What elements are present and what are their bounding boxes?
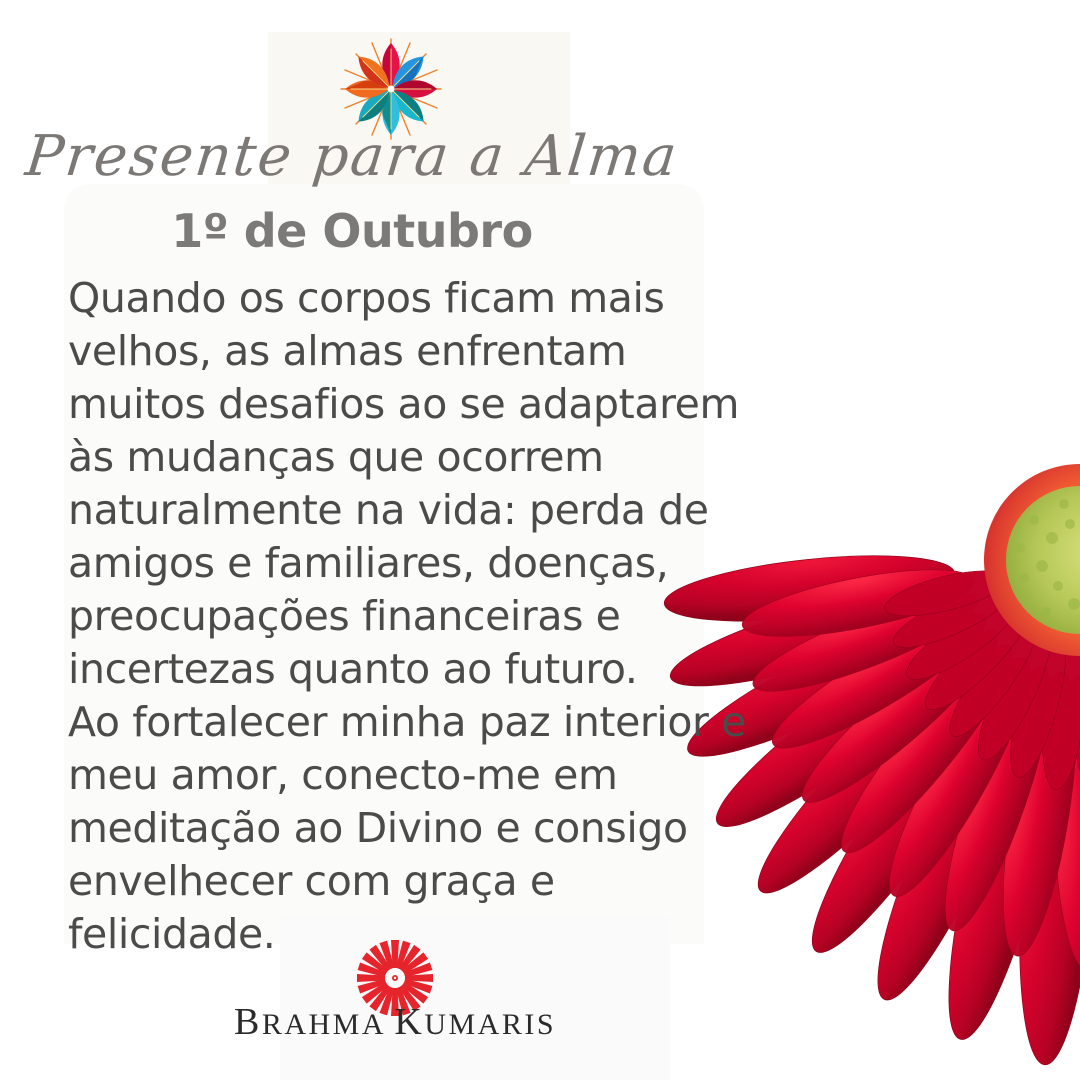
- organization-name-part1: RAHMA: [262, 1008, 385, 1041]
- message-body: Quando os corpos ficam mais velhos, as a…: [68, 272, 758, 961]
- organization-name-part1-initial: B: [234, 1001, 262, 1043]
- page-date-title: 1º de Outubro: [0, 204, 704, 258]
- organization-name: BRAHMA KUMARIS: [230, 1000, 560, 1044]
- message-paragraph: Quando os corpos ficam mais velhos, as a…: [68, 272, 758, 696]
- message-paragraph: Ao fortalecer minha paz interior e meu a…: [68, 696, 758, 961]
- organization-name-part2: UMARIS: [424, 1008, 556, 1041]
- poster-canvas: Presente para a Alma 1º de Outubro Quand…: [0, 0, 1080, 1080]
- page-title-script: Presente para a Alma: [0, 124, 707, 189]
- organization-name-part2-initial: K: [394, 1001, 424, 1043]
